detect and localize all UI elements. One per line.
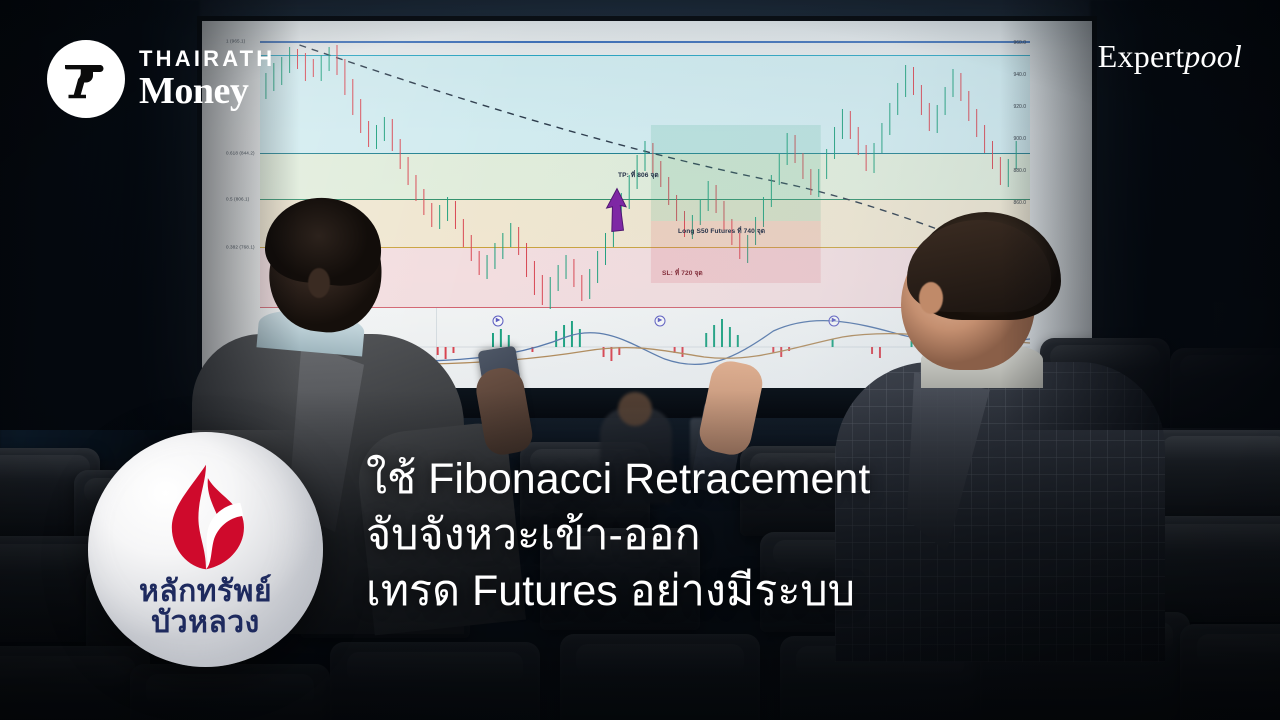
thairath-top-text: THAIRATH <box>139 48 275 70</box>
indicator-marker-2[interactable]: ▶ <box>493 316 504 327</box>
bualuang-wordmark: หลักทรัพย์ บัวหลวง <box>139 577 272 638</box>
annotation-entry: Long S50 Futures ที่ 740 จุด <box>678 225 765 236</box>
seat <box>0 646 150 720</box>
headline: ใช้ Fibonacci Retracement จับจังหวะเข้า-… <box>366 452 1156 620</box>
seat <box>1180 624 1280 720</box>
thairath-glyph-icon <box>58 51 114 107</box>
axis-tick-940: 940.0 <box>1013 72 1026 78</box>
bualuang-securities-logo[interactable]: หลักทรัพย์ บัวหลวง <box>88 432 323 667</box>
axis-tick-920: 920.0 <box>1013 104 1026 110</box>
slide-canvas: 1 (965.1) 0.618 (844.2) 0.5 (806.1) 0.38… <box>0 0 1280 720</box>
presenter-left-ear <box>308 268 330 298</box>
annotation-stop-loss: SL: ที่ 720 จุด <box>662 267 703 278</box>
bualuang-line-2: บัวหลวง <box>151 608 260 639</box>
thairath-wordmark: THAIRATH Money <box>139 48 275 110</box>
entry-arrow-icon <box>604 181 630 239</box>
indicator-marker-3[interactable]: ▶ <box>655 316 666 327</box>
seat <box>560 634 760 720</box>
axis-tick-960: 960.0 <box>1013 40 1026 46</box>
thairath-logo-icon <box>47 40 125 118</box>
seat <box>330 642 540 720</box>
lotus-flame-icon <box>158 461 254 573</box>
headline-line-1: ใช้ Fibonacci Retracement <box>366 452 1156 508</box>
expertpool-logo[interactable]: Expertpool <box>1098 38 1242 75</box>
seat <box>130 664 330 720</box>
axis-tick-880: 880.0 <box>1013 168 1026 174</box>
annotation-take-profit: TP: ที่ 806 จุด <box>618 169 659 180</box>
expertpool-part2: pool <box>1184 38 1242 74</box>
seat <box>1170 348 1280 438</box>
fib-label-0618: 0.618 (844.2) <box>226 151 255 156</box>
background-attendee-head <box>618 392 652 426</box>
axis-tick-900: 900.0 <box>1013 136 1026 142</box>
thairath-bottom-text: Money <box>139 72 275 110</box>
axis-tick-860: 860.0 <box>1013 200 1026 206</box>
headline-line-3: เทรด Futures อย่างมีระบบ <box>366 564 1156 620</box>
expertpool-part1: Expert <box>1098 38 1185 74</box>
indicator-marker-4[interactable]: ▶ <box>829 316 840 327</box>
headline-line-2: จับจังหวะเข้า-ออก <box>366 508 1156 564</box>
bualuang-line-1: หลักทรัพย์ <box>139 577 272 608</box>
presenter-right-ear <box>919 282 943 314</box>
thairath-money-logo[interactable]: THAIRATH Money <box>47 40 275 118</box>
